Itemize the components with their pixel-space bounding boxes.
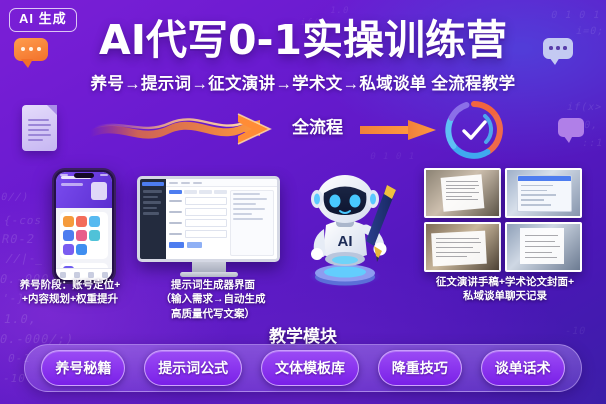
photo-manuscript (424, 168, 501, 218)
phone-icon-grid (60, 212, 108, 259)
poster-root: {-cos R0-2 //|-_ 0.-000/;) '-} 1.0, 0.-0… (0, 0, 606, 404)
modules-panel: 养号秘籍 提示词公式 文体模板库 降重技巧 谈单话术 (24, 344, 582, 392)
module-pill-4[interactable]: 降重技巧 (378, 350, 462, 386)
svg-text:AI: AI (338, 233, 353, 250)
code-text: if(x> (566, 102, 603, 113)
caption-line: （输入需求→自动生成 (138, 292, 288, 306)
module-pill-2[interactable]: 提示词公式 (144, 350, 242, 386)
code-text: 0//) (0, 192, 30, 203)
document-icon (22, 105, 57, 151)
arrow-right-icon (360, 118, 438, 142)
caption-line: 私域谈单聊天记录 (410, 289, 600, 303)
ai-robot-mascot: AI (290, 163, 400, 291)
ribbon-arrow-icon (88, 106, 293, 148)
monitor-base (180, 272, 238, 277)
phone-mockup (52, 168, 116, 284)
caption-line: 养号阶段：账号定位+ (0, 278, 140, 292)
code-text: //|-_ (5, 252, 46, 265)
code-text: -10 (2, 372, 28, 385)
caption-line: +内容规划+权重提升 (0, 292, 140, 306)
page-subtitle: 养号→提示词→征文演讲→学术文→私域谈单 全流程教学 (0, 70, 606, 94)
flow-label: 全流程 (292, 113, 343, 138)
photo-clipboard-laptop (505, 222, 582, 272)
admin-form (169, 190, 227, 256)
code-text: ::1 (581, 138, 604, 149)
caption-line: 提示词生成器界面 (138, 278, 288, 292)
code-text: 0 1 0 1 (369, 152, 416, 162)
admin-sidebar (140, 179, 166, 259)
monitor-stand (192, 262, 226, 272)
photos-caption: 征文演讲手稿+学术论文封面+ 私域谈单聊天记录 (410, 275, 600, 304)
code-text: R0-2 (1, 232, 37, 246)
module-pill-5[interactable]: 谈单话术 (481, 350, 565, 386)
phone-notch (74, 173, 94, 178)
caption-line: 高质量代写文案） (138, 307, 288, 321)
phone-screen (56, 172, 112, 280)
photo-chat-window (505, 168, 582, 218)
module-pill-1[interactable]: 养号秘籍 (41, 350, 125, 386)
desktop-monitor-mockup (137, 176, 280, 278)
code-text: {-cos (3, 214, 44, 227)
admin-main (166, 179, 277, 259)
progress-check-ring-icon (443, 99, 505, 161)
module-pill-3[interactable]: 文体模板库 (261, 350, 359, 386)
photo-desk-document (424, 222, 501, 272)
phone-caption: 养号阶段：账号定位+ +内容规划+权重提升 (0, 278, 140, 307)
chat-bubble-purple-icon (558, 118, 584, 137)
page-title: AI代写0-1实操训练营 (0, 18, 606, 63)
code-text: 1.0 (329, 6, 350, 16)
monitor-screen (137, 176, 280, 262)
photo-grid (424, 168, 582, 272)
admin-top-bar (166, 179, 277, 187)
caption-line: 征文演讲手稿+学术论文封面+ (410, 275, 600, 289)
admin-result-panel (230, 190, 274, 256)
monitor-caption: 提示词生成器界面 （输入需求→自动生成 高质量代写文案） (138, 278, 288, 321)
